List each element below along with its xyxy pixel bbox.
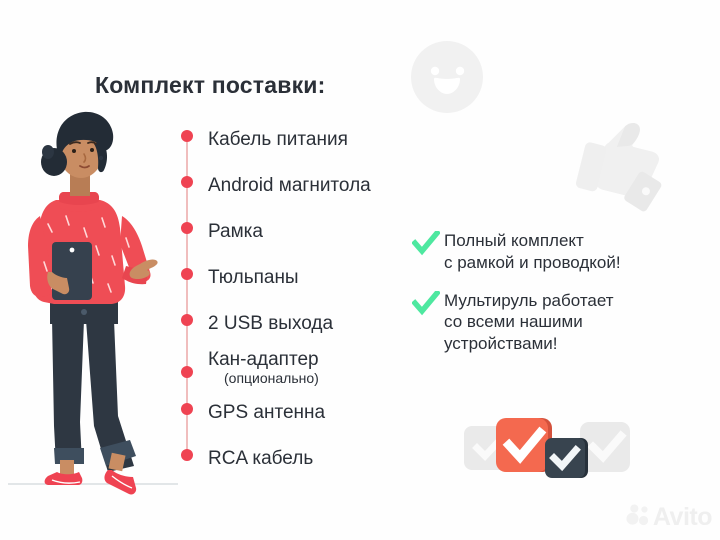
- list-item: Кан-адаптер (опционально): [178, 350, 428, 387]
- smiley-face-icon: [408, 38, 486, 116]
- green-check-icon: [412, 291, 440, 317]
- list-item: Рамка: [178, 222, 428, 242]
- checkbox-tile-dark: [545, 438, 588, 478]
- list-item-label: Android магнитола: [208, 176, 371, 196]
- bullet-dot-icon: [181, 268, 193, 280]
- list-item-label: RCA кабель: [208, 449, 313, 469]
- thumbs-up-icon: [575, 108, 681, 212]
- bullet-dot-icon: [181, 403, 193, 415]
- benefit-text: Мультируль работает со всеми нашими устр…: [444, 290, 614, 355]
- avito-watermark: Avito: [626, 503, 712, 532]
- benefits-list: Полный комплект с рамкой и проводкой! Му…: [412, 230, 702, 371]
- list-item: 2 USB выхода: [178, 314, 428, 334]
- list-item-label: Кан-адаптер: [208, 350, 319, 370]
- green-check-icon: [412, 231, 440, 257]
- bullet-dot-icon: [181, 366, 193, 378]
- bullet-dot-icon: [181, 314, 193, 326]
- bullet-dot-icon: [181, 449, 193, 461]
- checkbox-tiles-graphic: [462, 412, 632, 488]
- supply-list: Кабель питания Android магнитола Рамка Т…: [178, 130, 428, 469]
- benefit-text: Полный комплект с рамкой и проводкой!: [444, 230, 621, 274]
- avito-circles-logo: [626, 503, 650, 532]
- checkbox-tile-coral: [496, 418, 552, 472]
- list-item: Кабель питания: [178, 130, 428, 150]
- list-item-label: Рамка: [208, 222, 263, 242]
- list-item: Тюльпаны: [178, 268, 428, 288]
- slide-canvas: Комплект поставки: Кабель питания Androi…: [0, 0, 720, 540]
- list-item-label: Тюльпаны: [208, 268, 299, 288]
- list-item: Android магнитола: [178, 176, 428, 196]
- bullet-dot-icon: [181, 222, 193, 234]
- avito-watermark-text: Avito: [653, 503, 712, 532]
- list-item-sublabel: (опционально): [224, 370, 319, 387]
- page-title: Комплект поставки:: [95, 72, 326, 99]
- benefit-item: Полный комплект с рамкой и проводкой!: [412, 230, 702, 274]
- list-item-label: 2 USB выхода: [208, 314, 333, 334]
- bullet-dot-icon: [181, 176, 193, 188]
- woman-pointing-illustration: [8, 96, 178, 508]
- benefit-item: Мультируль работает со всеми нашими устр…: [412, 290, 702, 355]
- list-item-label: Кабель питания: [208, 130, 348, 150]
- list-item: RCA кабель: [178, 449, 428, 469]
- bullet-dot-icon: [181, 130, 193, 142]
- list-item: GPS антенна: [178, 403, 428, 423]
- list-item-label: GPS антенна: [208, 403, 325, 423]
